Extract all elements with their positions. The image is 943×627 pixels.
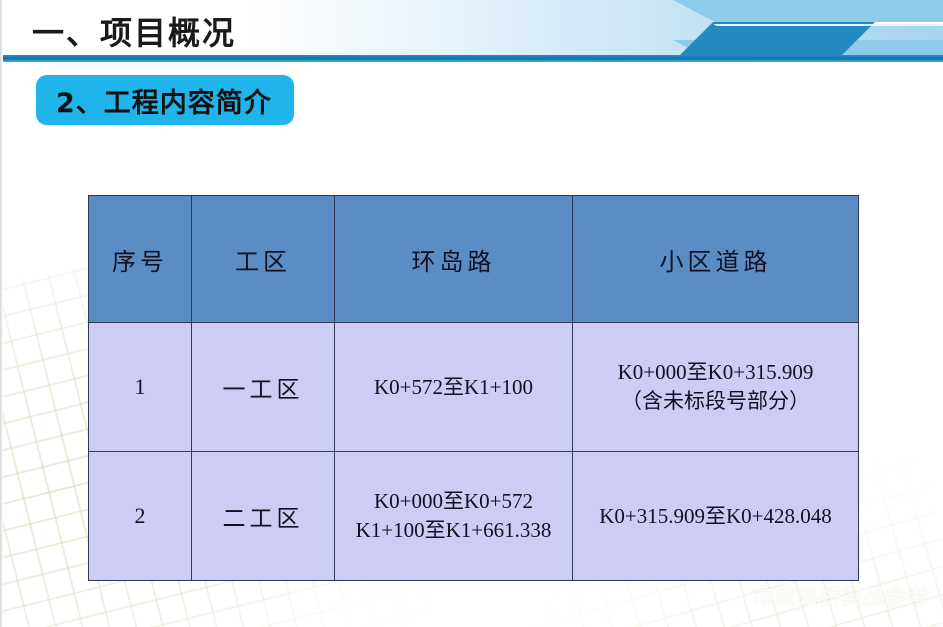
cell-line: K0+000至K0+572 xyxy=(341,487,566,516)
cell-ring-road: K0+000至K0+572 K1+100至K1+661.338 xyxy=(335,452,573,581)
slide-canvas: 一、项目概况 2、工程内容简介 序号 工区 环岛路 小区道路 1 一工区 K0+… xyxy=(0,0,943,627)
cell-index: 1 xyxy=(89,323,192,452)
cell-area-road: K0+315.909至K0+428.048 xyxy=(573,452,859,581)
cell-zone: 一工区 xyxy=(192,323,335,452)
work-zone-table: 序号 工区 环岛路 小区道路 1 一工区 K0+572至K1+100 K0+00… xyxy=(88,195,859,581)
watermark-label: 市政路桥实战参考 xyxy=(753,581,929,611)
header-divider-rule xyxy=(0,55,943,62)
cell-index: 2 xyxy=(89,452,192,581)
cell-line: K0+000至K0+315.909 xyxy=(579,358,852,387)
cell-line: K0+315.909至K0+428.048 xyxy=(579,502,852,531)
column-header-area-road: 小区道路 xyxy=(573,196,859,323)
wechat-icon xyxy=(714,581,744,611)
section-badge: 2、工程内容简介 xyxy=(36,75,294,125)
cell-line: （含未标段号部分） xyxy=(579,387,852,416)
cell-ring-road: K0+572至K1+100 xyxy=(335,323,573,452)
cell-line: K1+100至K1+661.338 xyxy=(341,516,566,545)
table-header-row: 序号 工区 环岛路 小区道路 xyxy=(89,196,859,323)
column-header-index: 序号 xyxy=(89,196,192,323)
slide-left-edge xyxy=(0,0,3,627)
table-row: 1 一工区 K0+572至K1+100 K0+000至K0+315.909 （含… xyxy=(89,323,859,452)
section-badge-label: 2、工程内容简介 xyxy=(56,81,272,120)
column-header-zone: 工区 xyxy=(192,196,335,323)
column-header-ring-road: 环岛路 xyxy=(335,196,573,323)
watermark: 市政路桥实战参考 xyxy=(714,581,929,611)
cell-area-road: K0+000至K0+315.909 （含未标段号部分） xyxy=(573,323,859,452)
page-title: 一、项目概况 xyxy=(32,8,236,54)
cell-line: K0+572至K1+100 xyxy=(341,373,566,402)
table-row: 2 二工区 K0+000至K0+572 K1+100至K1+661.338 K0… xyxy=(89,452,859,581)
cell-zone: 二工区 xyxy=(192,452,335,581)
